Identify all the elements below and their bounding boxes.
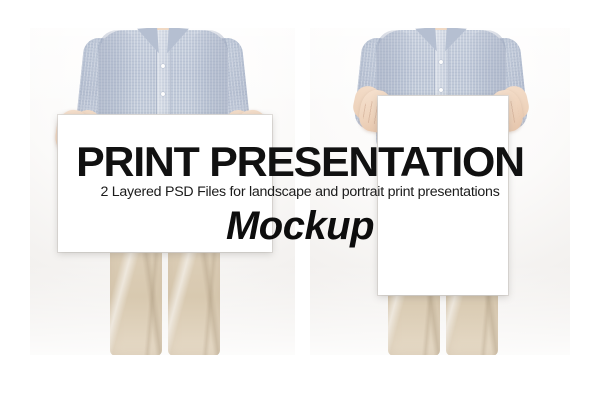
collar-left <box>137 28 159 55</box>
portrait-poster-artboard[interactable] <box>378 96 508 295</box>
landscape-poster-artboard[interactable] <box>58 115 272 252</box>
mockup-preview-canvas: PRINT PRESENTATION 2 Layered PSD Files f… <box>0 0 600 400</box>
collar-right <box>445 28 467 53</box>
collar-right <box>167 28 189 55</box>
collar-left <box>415 28 437 53</box>
